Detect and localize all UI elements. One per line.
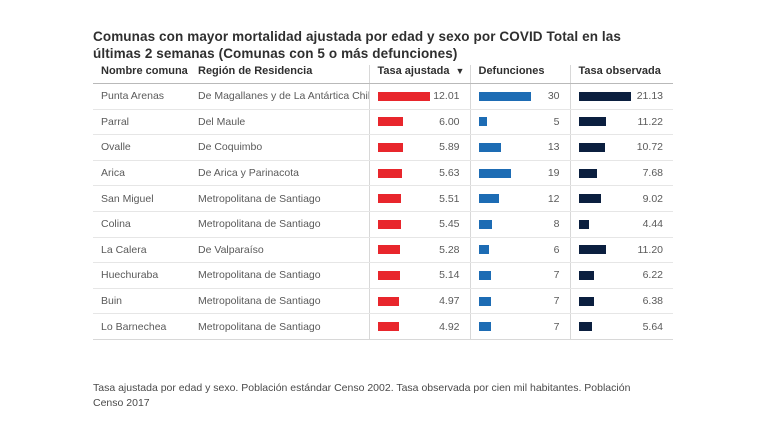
tasa-observada-bar <box>579 322 593 331</box>
cell-tasa-ajustada: 5.28 <box>369 237 470 263</box>
cell-defunciones-value: 7 <box>554 314 560 339</box>
cell-tasa-ajustada-value: 5.63 <box>439 161 459 186</box>
tasa-ajustada-bar <box>378 194 402 203</box>
column-header-tasa-observada[interactable]: Tasa observada <box>570 65 673 84</box>
cell-tasa-observada: 10.72 <box>570 135 673 161</box>
cell-tasa-observada-value: 7.68 <box>643 161 663 186</box>
cell-tasa-ajustada-value: 6.00 <box>439 110 459 135</box>
defunciones-bar <box>479 143 502 152</box>
cell-defunciones: 13 <box>470 135 570 161</box>
tasa-ajustada-bar <box>378 297 400 306</box>
table-row[interactable]: ParralDel Maule6.00511.22 <box>93 109 673 135</box>
tasa-observada-bar <box>579 92 631 101</box>
column-header-defunciones-label: Defunciones <box>471 65 570 77</box>
cell-tasa-ajustada-value: 4.92 <box>439 314 459 339</box>
cell-comuna: Buin <box>93 288 190 314</box>
cell-defunciones-value: 30 <box>548 84 560 109</box>
cell-comuna: Ovalle <box>93 135 190 161</box>
cell-defunciones-value: 12 <box>548 186 560 211</box>
cell-defunciones: 5 <box>470 109 570 135</box>
cell-defunciones: 7 <box>470 263 570 289</box>
footnote: Tasa ajustada por edad y sexo. Población… <box>93 381 641 411</box>
tasa-ajustada-bar <box>378 220 402 229</box>
cell-tasa-observada-value: 6.38 <box>643 289 663 314</box>
cell-tasa-ajustada-value: 5.51 <box>439 186 459 211</box>
cell-comuna: Lo Barnechea <box>93 314 190 340</box>
cell-tasa-ajustada: 4.92 <box>369 314 470 340</box>
column-header-comuna-label: Nombre comuna <box>93 65 190 77</box>
defunciones-bar <box>479 297 491 306</box>
tasa-observada-bar <box>579 271 594 280</box>
cell-tasa-observada-value: 11.22 <box>638 110 664 135</box>
cell-tasa-observada-value: 5.64 <box>643 314 663 339</box>
cell-region: Del Maule <box>190 109 369 135</box>
column-header-tasa-observada-label: Tasa observada <box>571 65 674 77</box>
table-row[interactable]: OvalleDe Coquimbo5.891310.72 <box>93 135 673 161</box>
tasa-ajustada-bar <box>378 245 401 254</box>
cell-tasa-ajustada: 12.01 <box>369 84 470 110</box>
cell-region: De Coquimbo <box>190 135 369 161</box>
defunciones-bar <box>479 220 493 229</box>
column-header-region-label: Región de Residencia <box>190 65 369 77</box>
cell-defunciones-value: 13 <box>548 135 560 160</box>
defunciones-bar <box>479 117 488 126</box>
mortality-table-container: Nombre comuna Región de Residencia Tasa … <box>93 65 673 340</box>
cell-comuna: San Miguel <box>93 186 190 212</box>
cell-tasa-observada-value: 11.20 <box>638 238 664 263</box>
cell-region: Metropolitana de Santiago <box>190 263 369 289</box>
cell-tasa-observada-value: 6.22 <box>643 263 663 288</box>
cell-comuna: Arica <box>93 160 190 186</box>
tasa-ajustada-bar <box>378 143 404 152</box>
cell-comuna: Parral <box>93 109 190 135</box>
cell-defunciones: 7 <box>470 314 570 340</box>
cell-tasa-ajustada: 5.63 <box>369 160 470 186</box>
report-page: Comunas con mayor mortalidad ajustada po… <box>0 0 784 441</box>
tasa-observada-bar <box>579 143 605 152</box>
defunciones-bar <box>479 322 491 331</box>
table-row[interactable]: AricaDe Arica y Parinacota5.63197.68 <box>93 160 673 186</box>
cell-comuna: Punta Arenas <box>93 84 190 110</box>
column-header-defunciones[interactable]: Defunciones <box>470 65 570 84</box>
table-row[interactable]: Lo BarnecheaMetropolitana de Santiago4.9… <box>93 314 673 340</box>
cell-tasa-ajustada-value: 5.14 <box>439 263 459 288</box>
tasa-observada-bar <box>579 194 601 203</box>
cell-tasa-observada-value: 9.02 <box>643 186 663 211</box>
cell-tasa-ajustada-value: 5.45 <box>439 212 459 237</box>
defunciones-bar <box>479 245 489 254</box>
tasa-ajustada-bar <box>378 322 399 331</box>
cell-tasa-ajustada: 5.14 <box>369 263 470 289</box>
cell-comuna: La Calera <box>93 237 190 263</box>
tasa-observada-bar <box>579 220 590 229</box>
column-header-comuna[interactable]: Nombre comuna <box>93 65 190 84</box>
cell-tasa-observada-value: 21.13 <box>637 84 663 109</box>
defunciones-bar <box>479 271 491 280</box>
cell-region: Metropolitana de Santiago <box>190 314 369 340</box>
cell-tasa-ajustada-value: 5.28 <box>439 238 459 263</box>
column-header-tasa-ajustada-label: Tasa ajustada <box>378 65 450 77</box>
tasa-observada-bar <box>579 117 607 126</box>
sort-descending-icon[interactable]: ▼ <box>455 67 464 76</box>
tasa-ajustada-bar <box>378 271 400 280</box>
cell-tasa-ajustada-value: 5.89 <box>439 135 459 160</box>
cell-region: Metropolitana de Santiago <box>190 211 369 237</box>
table-row[interactable]: La CaleraDe Valparaíso5.28611.20 <box>93 237 673 263</box>
tasa-observada-bar <box>579 297 595 306</box>
cell-tasa-observada: 7.68 <box>570 160 673 186</box>
table-row[interactable]: San MiguelMetropolitana de Santiago5.511… <box>93 186 673 212</box>
cell-defunciones: 19 <box>470 160 570 186</box>
cell-tasa-observada-value: 10.72 <box>637 135 663 160</box>
cell-defunciones-value: 5 <box>554 110 560 135</box>
column-header-region[interactable]: Región de Residencia <box>190 65 369 84</box>
tasa-ajustada-bar <box>378 92 430 101</box>
cell-tasa-ajustada: 5.45 <box>369 211 470 237</box>
cell-tasa-observada: 4.44 <box>570 211 673 237</box>
cell-tasa-observada: 5.64 <box>570 314 673 340</box>
cell-tasa-ajustada: 4.97 <box>369 288 470 314</box>
cell-tasa-ajustada: 6.00 <box>369 109 470 135</box>
cell-defunciones-value: 7 <box>554 263 560 288</box>
cell-defunciones: 8 <box>470 211 570 237</box>
table-header: Nombre comuna Región de Residencia Tasa … <box>93 65 673 84</box>
table-header-row: Nombre comuna Región de Residencia Tasa … <box>93 65 673 84</box>
cell-region: Metropolitana de Santiago <box>190 186 369 212</box>
cell-tasa-observada: 11.20 <box>570 237 673 263</box>
cell-defunciones-value: 7 <box>554 289 560 314</box>
tasa-ajustada-bar <box>378 169 402 178</box>
page-title: Comunas con mayor mortalidad ajustada po… <box>93 28 653 62</box>
cell-comuna: Colina <box>93 211 190 237</box>
cell-tasa-ajustada: 5.51 <box>369 186 470 212</box>
tasa-ajustada-bar <box>378 117 404 126</box>
cell-tasa-observada: 11.22 <box>570 109 673 135</box>
defunciones-bar <box>479 92 531 101</box>
cell-region: De Arica y Parinacota <box>190 160 369 186</box>
cell-tasa-observada: 21.13 <box>570 84 673 110</box>
cell-region: Metropolitana de Santiago <box>190 288 369 314</box>
cell-tasa-observada: 6.38 <box>570 288 673 314</box>
cell-defunciones-value: 8 <box>554 212 560 237</box>
cell-tasa-observada: 9.02 <box>570 186 673 212</box>
cell-defunciones-value: 6 <box>554 238 560 263</box>
tasa-observada-bar <box>579 245 607 254</box>
tasa-observada-bar <box>579 169 598 178</box>
table-row[interactable]: BuinMetropolitana de Santiago4.9776.38 <box>93 288 673 314</box>
cell-tasa-ajustada: 5.89 <box>369 135 470 161</box>
cell-region: De Magallanes y de La Antártica Chilena <box>190 84 369 110</box>
cell-region: De Valparaíso <box>190 237 369 263</box>
cell-defunciones: 30 <box>470 84 570 110</box>
table-body: Punta ArenasDe Magallanes y de La Antárt… <box>93 84 673 340</box>
cell-defunciones: 12 <box>470 186 570 212</box>
cell-tasa-ajustada-value: 12.01 <box>433 84 459 109</box>
defunciones-bar <box>479 194 500 203</box>
defunciones-bar <box>479 169 512 178</box>
cell-comuna: Huechuraba <box>93 263 190 289</box>
table-row[interactable]: ColinaMetropolitana de Santiago5.4584.44 <box>93 211 673 237</box>
mortality-table: Nombre comuna Región de Residencia Tasa … <box>93 65 673 340</box>
cell-defunciones-value: 19 <box>548 161 560 186</box>
cell-defunciones: 7 <box>470 288 570 314</box>
cell-tasa-observada: 6.22 <box>570 263 673 289</box>
cell-tasa-ajustada-value: 4.97 <box>439 289 459 314</box>
cell-defunciones: 6 <box>470 237 570 263</box>
table-row[interactable]: Punta ArenasDe Magallanes y de La Antárt… <box>93 84 673 110</box>
column-header-tasa-ajustada[interactable]: Tasa ajustada ▼ <box>369 65 470 84</box>
cell-tasa-observada-value: 4.44 <box>643 212 663 237</box>
table-row[interactable]: HuechurabaMetropolitana de Santiago5.147… <box>93 263 673 289</box>
